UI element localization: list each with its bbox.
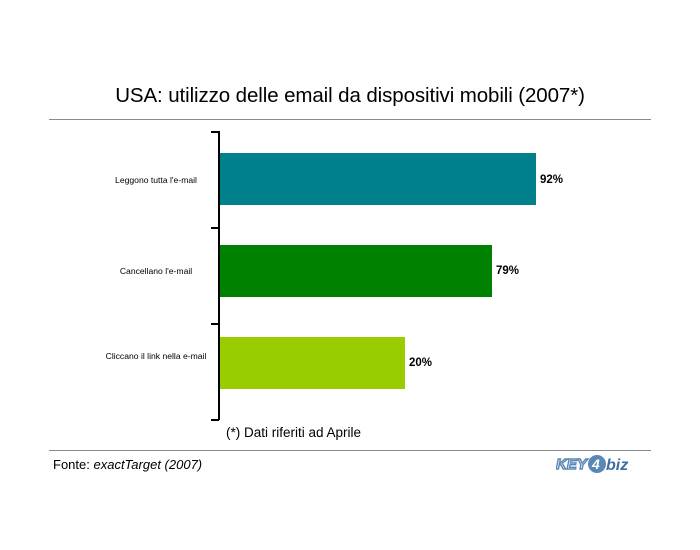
axis-tick: [211, 323, 219, 325]
footer-divider: [49, 450, 651, 451]
bar-cancellano-email[interactable]: [220, 245, 492, 297]
axis-tick: [211, 419, 219, 421]
logo-four-text: 4: [591, 456, 600, 472]
logo-key-text: KEY: [556, 456, 589, 473]
category-label: Cancellano l'e-mail: [86, 266, 226, 277]
axis-tick: [211, 131, 219, 133]
bar-value-label: 79%: [496, 265, 519, 277]
chart-footnote: (*) Dati riferiti ad Aprile: [226, 425, 361, 440]
bar-leggono-tutta-email[interactable]: [220, 153, 536, 205]
source-name: exactTarget (2007): [93, 457, 202, 472]
logo-biz-text: biz: [606, 457, 628, 474]
axis-tick: [211, 227, 219, 229]
bar-value-label: 92%: [540, 174, 563, 186]
category-label: Leggono tutta l'e-mail: [86, 175, 226, 186]
bar-cliccano-link-email[interactable]: [220, 337, 405, 389]
bar-value-label: 20%: [409, 357, 432, 369]
chart-slide: USA: utilizzo delle email da dispositivi…: [0, 0, 700, 550]
source-prefix: Fonte:: [53, 457, 90, 472]
key4biz-logo[interactable]: KEY 4 biz: [556, 452, 644, 476]
source-line: Fonte: exactTarget (2007): [53, 457, 202, 472]
category-label: Cliccano il link nella e-mail: [86, 351, 226, 362]
